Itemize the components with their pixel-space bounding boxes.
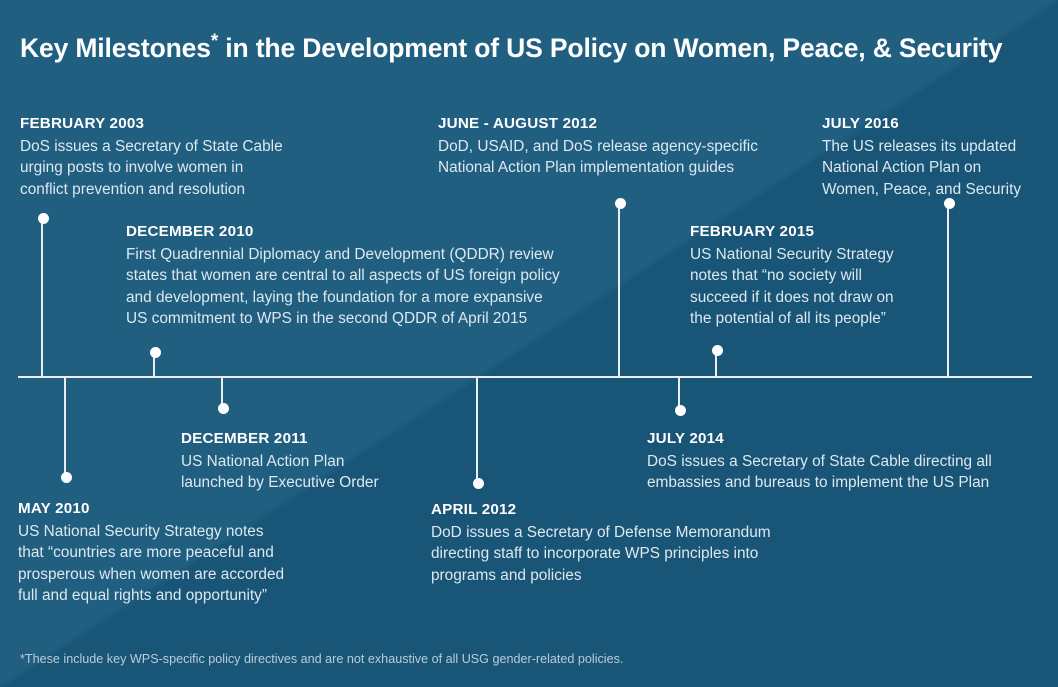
- milestone-date: APRIL 2012: [431, 499, 831, 521]
- milestone-date: MAY 2010: [18, 498, 358, 520]
- milestone-february-2015: FEBRUARY 2015 US National Security Strat…: [690, 221, 970, 330]
- timeline-dot-february-2003: [38, 213, 49, 224]
- milestone-date: JUNE - AUGUST 2012: [438, 113, 798, 135]
- milestone-date: DECEMBER 2010: [126, 221, 626, 243]
- milestone-description: First Quadrennial Diplomacy and Developm…: [126, 244, 626, 330]
- connector-stem-february-2003: [41, 218, 43, 377]
- timeline-dot-april-2012: [473, 478, 484, 489]
- timeline-dot-february-2015: [712, 345, 723, 356]
- page-title-asterisk: *: [211, 31, 218, 52]
- connector-stem-may-2010: [64, 378, 66, 477]
- page-title: Key Milestones* in the Development of US…: [20, 33, 1040, 65]
- page-title-rest: in the Development of US Policy on Women…: [218, 33, 1002, 63]
- timeline-dot-may-2010: [61, 472, 72, 483]
- milestone-april-2012: APRIL 2012 DoD issues a Secretary of Def…: [431, 499, 831, 586]
- timeline-axis: [18, 376, 1032, 378]
- milestone-description: US National Action Plan launched by Exec…: [181, 451, 461, 494]
- milestone-date: FEBRUARY 2015: [690, 221, 970, 243]
- milestone-description: US National Security Strategy notes that…: [18, 521, 358, 607]
- timeline-dot-june-august-2012: [615, 198, 626, 209]
- milestone-description: DoD, USAID, and DoS release agency-speci…: [438, 136, 798, 179]
- milestone-description: The US releases its updated National Act…: [822, 136, 1048, 201]
- milestone-december-2010: DECEMBER 2010 First Quadrennial Diplomac…: [126, 221, 626, 330]
- timeline-infographic: Key Milestones* in the Development of US…: [0, 0, 1058, 687]
- milestone-july-2014: JULY 2014 DoS issues a Secretary of Stat…: [647, 428, 1047, 494]
- timeline-dot-december-2010: [150, 347, 161, 358]
- milestone-date: FEBRUARY 2003: [20, 113, 350, 135]
- footnote: *These include key WPS-specific policy d…: [20, 651, 623, 667]
- milestone-date: JULY 2016: [822, 113, 1048, 135]
- milestone-july-2016: JULY 2016 The US releases its updated Na…: [822, 113, 1048, 200]
- milestone-date: DECEMBER 2011: [181, 428, 461, 450]
- milestone-description: DoS issues a Secretary of State Cable di…: [647, 451, 1047, 494]
- timeline-dot-december-2011: [218, 403, 229, 414]
- milestone-description: US National Security Strategy notes that…: [690, 244, 970, 330]
- milestone-description: DoD issues a Secretary of Defense Memora…: [431, 522, 831, 587]
- timeline-dot-july-2014: [675, 405, 686, 416]
- milestone-june-august-2012: JUNE - AUGUST 2012 DoD, USAID, and DoS r…: [438, 113, 798, 179]
- milestone-date: JULY 2014: [647, 428, 1047, 450]
- milestone-description: DoS issues a Secretary of State Cable ur…: [20, 136, 350, 201]
- milestone-february-2003: FEBRUARY 2003 DoS issues a Secretary of …: [20, 113, 350, 200]
- milestone-may-2010: MAY 2010 US National Security Strategy n…: [18, 498, 358, 607]
- connector-stem-april-2012: [476, 378, 478, 483]
- milestone-december-2011: DECEMBER 2011 US National Action Plan la…: [181, 428, 461, 494]
- page-title-main: Key Milestones: [20, 33, 211, 63]
